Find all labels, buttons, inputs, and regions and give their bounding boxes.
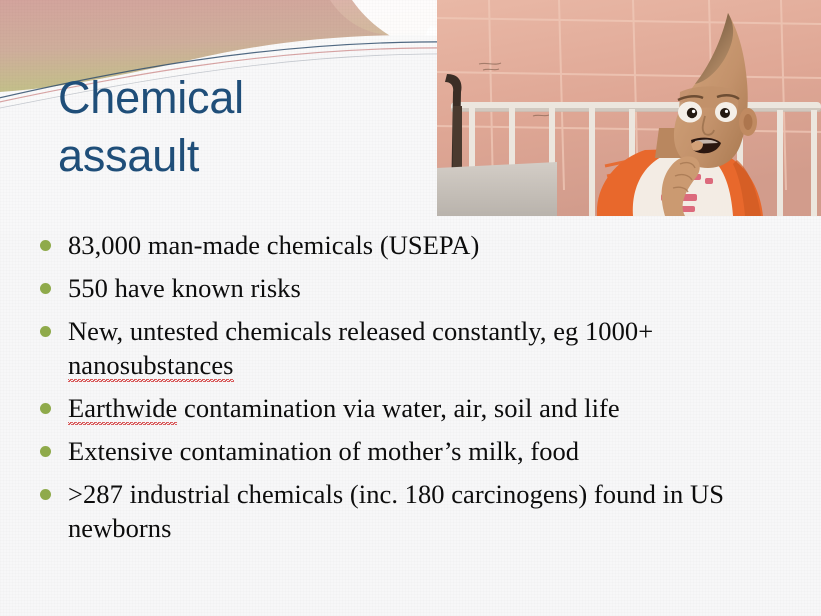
list-item: Earthwide contamination via water, air, …: [40, 391, 792, 425]
bullet-text-segment: New, untested chemicals released constan…: [68, 316, 653, 346]
bullet-chemicals-count: 83,000 man-made chemicals (USEPA): [68, 228, 792, 262]
misspelled-word: Earthwide: [68, 393, 177, 426]
misspelled-word: nanosubstances: [68, 350, 234, 383]
list-item: 83,000 man-made chemicals (USEPA): [40, 228, 792, 262]
child-with-cranial-deformity-photo: [437, 0, 821, 216]
page-title: Chemical assault: [58, 69, 438, 185]
bullet-text-segment: >287 industrial chemicals (inc. 180 carc…: [68, 479, 724, 543]
presentation-slide: Chemical assault 83,000 man-made chemica…: [0, 0, 821, 616]
bullet-point-icon: [40, 283, 51, 294]
title-line-1: Chemical: [58, 69, 438, 127]
bullet-text-segment: Extensive contamination of mother’s milk…: [68, 436, 579, 466]
bullet-point-icon: [40, 240, 51, 251]
bullet-text-segment: 550 have known risks: [68, 273, 301, 303]
list-item: Extensive contamination of mother’s milk…: [40, 434, 792, 468]
bullet-point-icon: [40, 489, 51, 500]
bullet-earthwide-contamination: Earthwide contamination via water, air, …: [68, 391, 792, 425]
list-item: >287 industrial chemicals (inc. 180 carc…: [40, 477, 792, 545]
bullet-us-newborns: >287 industrial chemicals (inc. 180 carc…: [68, 477, 792, 545]
bullet-text-segment: 83,000 man-made chemicals (USEPA): [68, 230, 479, 260]
bullet-mothers-milk: Extensive contamination of mother’s milk…: [68, 434, 792, 468]
bullet-point-icon: [40, 403, 51, 414]
title-line-2: assault: [58, 127, 438, 185]
bullet-list: 83,000 man-made chemicals (USEPA)550 hav…: [40, 228, 792, 554]
bullet-known-risks: 550 have known risks: [68, 271, 792, 305]
bullet-untested-chemicals: New, untested chemicals released constan…: [68, 314, 792, 382]
list-item: 550 have known risks: [40, 271, 792, 305]
bullet-point-icon: [40, 446, 51, 457]
bullet-text-segment: contamination via water, air, soil and l…: [177, 393, 619, 423]
list-item: New, untested chemicals released constan…: [40, 314, 792, 382]
bullet-point-icon: [40, 326, 51, 337]
